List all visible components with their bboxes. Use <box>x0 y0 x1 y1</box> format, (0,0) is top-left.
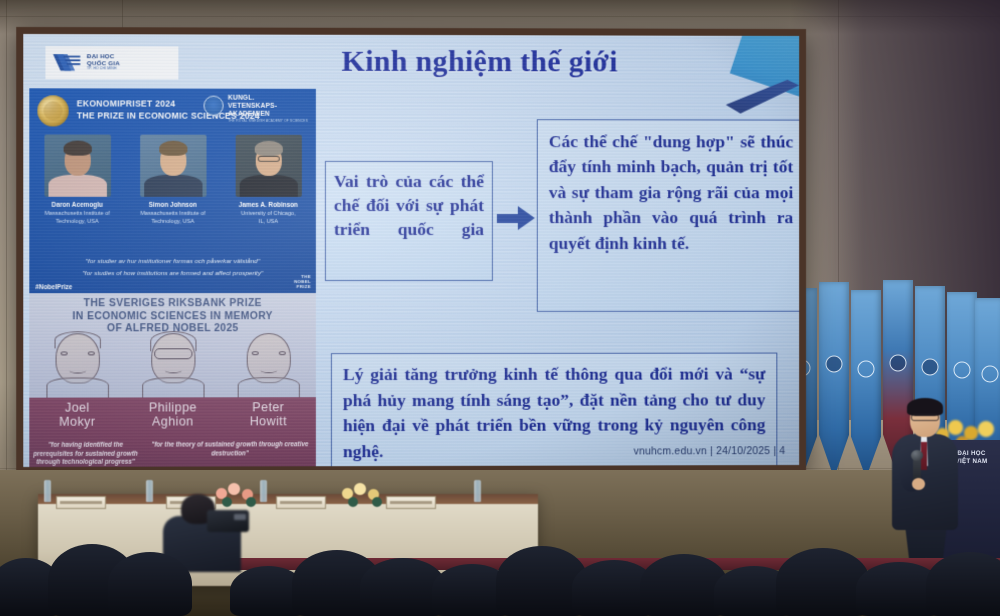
laureate-name-block: Joel Mokyr <box>33 402 122 429</box>
projection-screen: ĐẠI HỌC QUỐC GIA TP. HỒ CHÍ MINH Kinh ng… <box>16 27 806 474</box>
nobel-2025-citations: "for having identified the prerequisites… <box>29 441 316 467</box>
nobel-2025-title-line-2: IN ECONOMIC SCIENCES IN MEMORY <box>29 311 316 324</box>
laureate-photo <box>235 135 301 197</box>
logo-line-3: TP. HỒ CHÍ MINH <box>87 67 120 71</box>
laureate-card: Simon Johnson Massachusetts Institute of… <box>134 135 212 226</box>
nobel-medal-icon <box>37 95 68 126</box>
academy-line-2: VETENSKAPS- <box>228 103 308 111</box>
academy-mark: KUNGL. VETENSKAPS- AKADEMIEN THE ROYAL S… <box>204 95 308 124</box>
vnu-logo: ĐẠI HỌC QUỐC GIA TP. HỒ CHÍ MINH <box>45 46 178 79</box>
water-bottle <box>146 480 153 502</box>
laureate-sketch <box>227 331 309 397</box>
academy-line-3: AKADEMIEN <box>228 111 308 119</box>
slide-title: Kinh nghiệm thế giới <box>199 44 758 79</box>
flag-emblem-icon <box>922 358 939 375</box>
vnu-logo-icon <box>52 51 82 75</box>
laureate-affiliation-1: Massachusetts Institute of <box>38 211 117 219</box>
flag <box>819 282 849 478</box>
laureate-first-name: Peter <box>224 401 312 415</box>
laureate-affiliation-2: Technology, USA <box>38 218 117 226</box>
academy-sub: THE ROYAL SWEDISH ACADEMY OF SCIENCES <box>228 119 308 123</box>
water-bottle <box>474 480 481 502</box>
laureate-last-name: Mokyr <box>33 415 122 429</box>
citation-english: "for studies of how institutions are for… <box>29 270 316 277</box>
flag <box>851 290 881 478</box>
laureate-affiliation-1: Massachusetts Institute of <box>134 211 212 219</box>
textbox-role-of-institutions: Vai trò của các thể chế đối với sự phát … <box>325 161 493 281</box>
flag-emblem-icon <box>890 355 907 372</box>
nobel-prize-corner-mark: THE NOBEL PRIZE <box>294 274 311 289</box>
laureate-affiliation-1: University of Chicago, <box>229 211 307 219</box>
nobel-2024-header: EKONOMIPRISET 2024 THE PRIZE IN ECONOMIC… <box>29 88 316 133</box>
laureate-name-block: Philippe Aghion <box>129 401 217 428</box>
laureate-sketch <box>132 331 214 397</box>
glasses-icon <box>911 414 939 421</box>
laureate-last-name: Aghion <box>129 415 217 429</box>
citation-right: "for the theory of sustained growth thro… <box>144 441 316 467</box>
laureate-photo <box>44 134 111 196</box>
flag-emblem-icon <box>982 365 999 382</box>
laureate-first-name: Joel <box>33 402 122 416</box>
flower-arrangement <box>340 480 394 506</box>
microphone-head-icon <box>911 450 923 461</box>
laureate-name: Simon Johnson <box>134 202 212 209</box>
laureate-card: Daron Acemoglu Massachusetts Institute o… <box>38 134 117 226</box>
nobel-2024-citations: "for studier av hur institutioner formas… <box>29 253 316 277</box>
laureate-name: Daron Acemoglu <box>38 202 117 209</box>
citation-left: "for having identified the prerequisites… <box>31 442 139 467</box>
nobel-2024-panel: EKONOMIPRISET 2024 THE PRIZE IN ECONOMIC… <box>29 88 316 293</box>
nobel-2025-panel: THE SVERIGES RIKSBANK PRIZE IN ECONOMIC … <box>29 293 316 467</box>
laureate-sketch <box>36 331 119 397</box>
laureate-card: James A. Robinson University of Chicago,… <box>229 135 307 226</box>
nobel-2025-bottom: Joel Mokyr Philippe Aghion Peter Howitt <box>29 397 316 467</box>
right-arrow-icon <box>497 205 537 231</box>
flag-emblem-icon <box>954 362 971 379</box>
audience-head <box>108 552 192 616</box>
nobel-2025-top: THE SVERIGES RIKSBANK PRIZE IN ECONOMIC … <box>29 293 316 398</box>
water-bottle <box>44 480 51 502</box>
video-camera-icon <box>207 510 249 532</box>
laureate-photo <box>140 135 206 197</box>
glasses-icon <box>154 348 192 359</box>
laureate-last-name: Howitt <box>224 415 312 429</box>
laureate-name-block: Peter Howitt <box>224 401 312 428</box>
laureate-name: James A. Robinson <box>229 202 307 209</box>
speaker-hand <box>912 478 925 490</box>
conference-hall-scene: ĐẠI HỌC QUỐC GIA TP. HỒ CHÍ MINH Kinh ng… <box>0 0 1000 616</box>
audience-head <box>926 552 1000 616</box>
textbox-inclusive-institutions: Các thể chế "dung hợp" sẽ thúc đẩy tính … <box>537 119 799 312</box>
nobelprize-hashtag: #NobelPrize <box>35 284 72 291</box>
corner-line-3: PRIZE <box>294 284 311 289</box>
flag-emblem-icon <box>858 360 875 377</box>
academy-line-1: KUNGL. <box>228 95 308 103</box>
academy-seal-icon <box>204 96 224 116</box>
laureate-affiliation-2: Technology, USA <box>134 218 212 226</box>
laureate-first-name: Philippe <box>129 401 217 415</box>
presentation-slide: ĐẠI HỌC QUỐC GIA TP. HỒ CHÍ MINH Kinh ng… <box>23 34 799 467</box>
citation-swedish: "for studier av hur institutioner formas… <box>29 258 316 265</box>
nobel-2025-title-line-1: THE SVERIGES RIKSBANK PRIZE <box>29 298 316 311</box>
glasses-icon <box>257 156 279 162</box>
nobel-2024-laureates: Daron Acemoglu Massachusetts Institute o… <box>29 134 316 226</box>
laureate-affiliation-2: IL, USA <box>229 218 307 226</box>
flag-emblem-icon <box>826 356 843 373</box>
audience <box>0 506 1000 616</box>
slide-footer: vnuhcm.edu.vn | 24/10/2025 | 4 <box>634 445 786 457</box>
nobel-2025-portraits <box>29 331 316 398</box>
nobel-2025-names: Joel Mokyr Philippe Aghion Peter Howitt <box>29 401 316 429</box>
